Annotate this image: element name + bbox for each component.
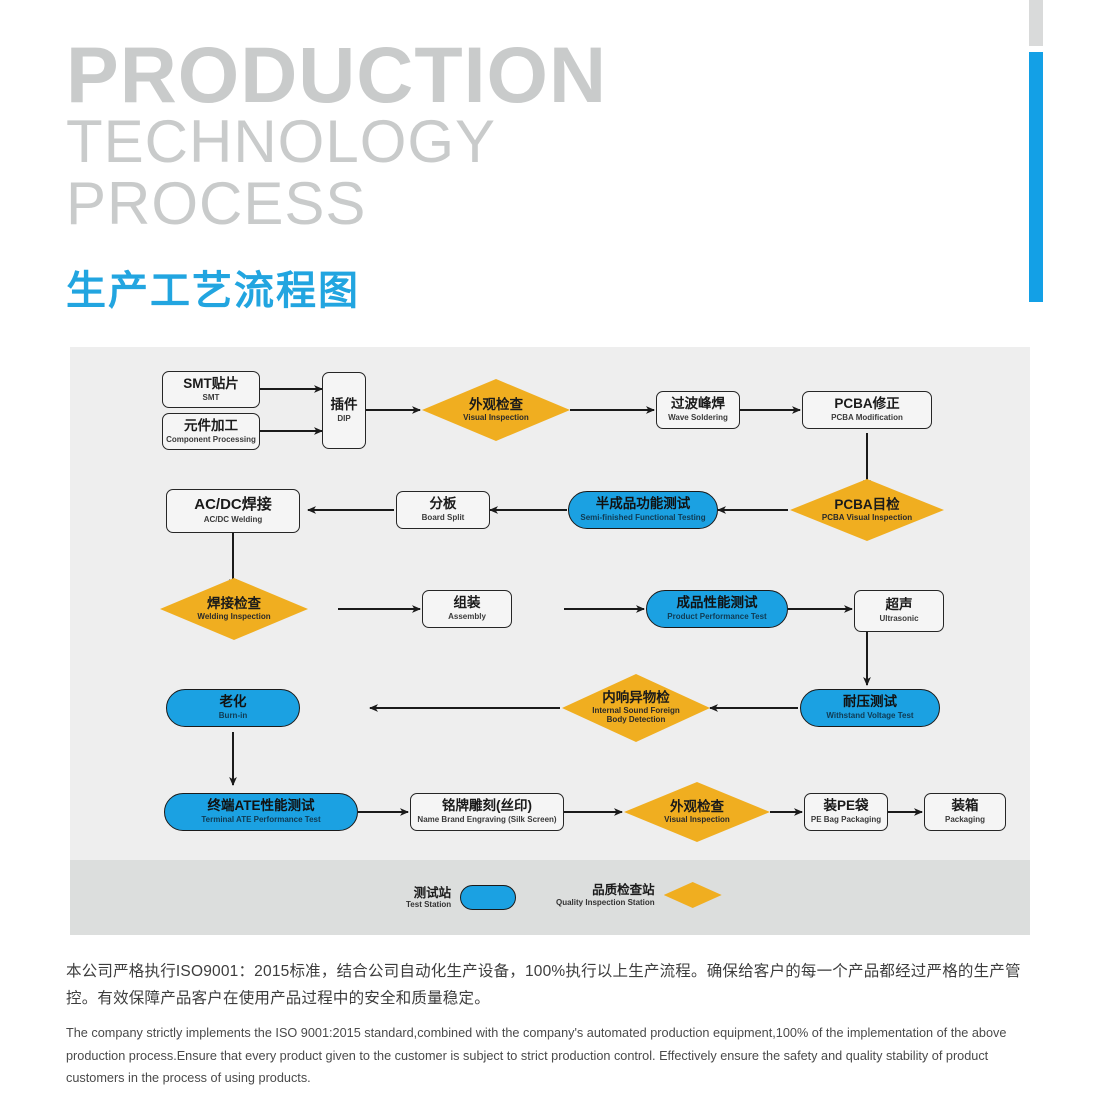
- legend-quality-inspection-en: Quality Inspection Station: [556, 898, 655, 907]
- node-acdc-welding[interactable]: AC/DC焊接 AC/DC Welding: [166, 489, 300, 533]
- node-visual-inspection-1-en: Visual Inspection: [463, 414, 529, 423]
- footer-paragraph-english: The company strictly implements the ISO …: [66, 1022, 1048, 1090]
- flowchart-panel: SMT贴片 SMT 元件加工 Component Processing 插件 D…: [70, 347, 1030, 860]
- node-burn-in-cn: 老化: [220, 695, 247, 710]
- node-withstand-voltage-test[interactable]: 耐压测试 Withstand Voltage Test: [800, 689, 940, 727]
- node-internal-sound-foreign-body-detection-en: Internal Sound Foreign Body Detection: [590, 707, 682, 725]
- legend-quality-inspection-cn: 品质检查站: [556, 883, 655, 897]
- node-board-split-en: Board Split: [422, 514, 465, 523]
- legend-test-station-en: Test Station: [406, 900, 451, 909]
- node-component-processing-en: Component Processing: [166, 436, 256, 445]
- node-name-brand-engraving-cn: 铭牌雕刻(丝印): [442, 799, 532, 814]
- legend-test-station-swatch: [460, 885, 516, 910]
- legend-test-station-label: 测试站 Test Station: [406, 886, 451, 910]
- node-visual-inspection-2-cn: 外观检查: [670, 800, 724, 815]
- node-pe-bag-packaging-en: PE Bag Packaging: [811, 816, 881, 825]
- node-terminal-ate-performance-test-en: Terminal ATE Performance Test: [201, 816, 320, 825]
- node-board-split-cn: 分板: [430, 497, 457, 512]
- node-product-performance-test-cn: 成品性能测试: [677, 596, 758, 611]
- node-pcba-modification-cn: PCBA修正: [834, 397, 899, 412]
- node-name-brand-engraving-en: Name Brand Engraving (Silk Screen): [417, 816, 556, 825]
- node-wave-soldering-cn: 过波峰焊: [671, 397, 725, 412]
- legend-item-quality-inspection-station: 品质检查站 Quality Inspection Station: [556, 882, 722, 908]
- node-product-performance-test[interactable]: 成品性能测试 Product Performance Test: [646, 590, 788, 628]
- node-visual-inspection-2-en: Visual Inspection: [664, 816, 730, 825]
- node-semi-finished-functional-testing-cn: 半成品功能测试: [596, 497, 691, 512]
- node-pe-bag-packaging[interactable]: 装PE袋 PE Bag Packaging: [804, 793, 888, 831]
- flowchart-legend: 测试站 Test Station 品质检查站 Quality Inspectio…: [70, 860, 1030, 935]
- node-dip-cn: 插件: [331, 398, 358, 413]
- node-dip-en: DIP: [337, 415, 350, 424]
- legend-test-station-cn: 测试站: [406, 886, 451, 900]
- node-assembly[interactable]: 组装 Assembly: [422, 590, 512, 628]
- node-ultrasonic[interactable]: 超声 Ultrasonic: [854, 590, 944, 632]
- node-visual-inspection-2[interactable]: 外观检查 Visual Inspection: [624, 782, 770, 842]
- accent-bar-blue: [1029, 52, 1043, 302]
- accent-bar-gray: [1029, 0, 1043, 46]
- page-title-line2: TECHNOLOGY: [66, 111, 766, 172]
- node-board-split[interactable]: 分板 Board Split: [396, 491, 490, 529]
- node-product-performance-test-en: Product Performance Test: [667, 613, 766, 622]
- node-smt-cn: SMT贴片: [183, 377, 239, 392]
- legend-item-test-station: 测试站 Test Station: [406, 885, 516, 910]
- node-smt[interactable]: SMT贴片 SMT: [162, 371, 260, 408]
- page-title-line1: PRODUCTION: [66, 38, 766, 111]
- node-smt-en: SMT: [203, 394, 220, 403]
- node-welding-inspection-cn: 焊接检查: [207, 597, 261, 612]
- page-header: PRODUCTION TECHNOLOGY PROCESS 生产工艺流程图: [66, 38, 766, 316]
- node-pcba-modification[interactable]: PCBA修正 PCBA Modification: [802, 391, 932, 429]
- node-packaging[interactable]: 装箱 Packaging: [924, 793, 1006, 831]
- node-acdc-welding-en: AC/DC Welding: [204, 516, 263, 525]
- page-title-line3: PROCESS: [66, 173, 766, 234]
- node-pcba-visual-inspection[interactable]: PCBA目检 PCBA Visual Inspection: [790, 479, 944, 541]
- node-pe-bag-packaging-cn: 装PE袋: [823, 799, 868, 814]
- node-internal-sound-foreign-body-detection[interactable]: 内响异物检 Internal Sound Foreign Body Detect…: [562, 674, 710, 742]
- node-welding-inspection[interactable]: 焊接检查 Welding Inspection: [160, 578, 308, 640]
- node-welding-inspection-en: Welding Inspection: [197, 613, 270, 622]
- node-visual-inspection-1-cn: 外观检查: [469, 398, 523, 413]
- node-packaging-en: Packaging: [945, 816, 985, 825]
- node-ultrasonic-cn: 超声: [886, 598, 913, 613]
- node-wave-soldering-en: Wave Soldering: [668, 414, 728, 423]
- node-withstand-voltage-test-cn: 耐压测试: [843, 695, 897, 710]
- node-semi-finished-functional-testing[interactable]: 半成品功能测试 Semi-finished Functional Testing: [568, 491, 718, 529]
- node-pcba-visual-inspection-en: PCBA Visual Inspection: [822, 514, 912, 523]
- footer-paragraph-chinese: 本公司严格执行ISO9001：2015标准，结合公司自动化生产设备，100%执行…: [66, 958, 1048, 1012]
- node-pcba-visual-inspection-cn: PCBA目检: [834, 498, 899, 513]
- node-assembly-en: Assembly: [448, 613, 486, 622]
- node-terminal-ate-performance-test-cn: 终端ATE性能测试: [208, 799, 315, 814]
- legend-quality-inspection-label: 品质检查站 Quality Inspection Station: [556, 883, 655, 907]
- page-title-chinese: 生产工艺流程图: [66, 234, 766, 316]
- node-ultrasonic-en: Ultrasonic: [879, 615, 918, 624]
- footer-text-block: 本公司严格执行ISO9001：2015标准，结合公司自动化生产设备，100%执行…: [66, 958, 1048, 1090]
- node-wave-soldering[interactable]: 过波峰焊 Wave Soldering: [656, 391, 740, 429]
- node-acdc-welding-cn: AC/DC焊接: [194, 497, 272, 514]
- node-name-brand-engraving[interactable]: 铭牌雕刻(丝印) Name Brand Engraving (Silk Scre…: [410, 793, 564, 831]
- node-internal-sound-foreign-body-detection-cn: 内响异物检: [602, 691, 670, 706]
- node-withstand-voltage-test-en: Withstand Voltage Test: [826, 712, 913, 721]
- node-burn-in-en: Burn-in: [219, 712, 247, 721]
- node-component-processing-cn: 元件加工: [184, 419, 238, 434]
- node-packaging-cn: 装箱: [952, 799, 979, 814]
- node-assembly-cn: 组装: [454, 596, 481, 611]
- node-burn-in[interactable]: 老化 Burn-in: [166, 689, 300, 727]
- node-terminal-ate-performance-test[interactable]: 终端ATE性能测试 Terminal ATE Performance Test: [164, 793, 358, 831]
- node-dip[interactable]: 插件 DIP: [322, 372, 366, 449]
- node-semi-finished-functional-testing-en: Semi-finished Functional Testing: [580, 514, 705, 523]
- node-component-processing[interactable]: 元件加工 Component Processing: [162, 413, 260, 450]
- node-visual-inspection-1[interactable]: 外观检查 Visual Inspection: [422, 379, 570, 441]
- legend-quality-inspection-swatch: [664, 882, 722, 908]
- node-pcba-modification-en: PCBA Modification: [831, 414, 903, 423]
